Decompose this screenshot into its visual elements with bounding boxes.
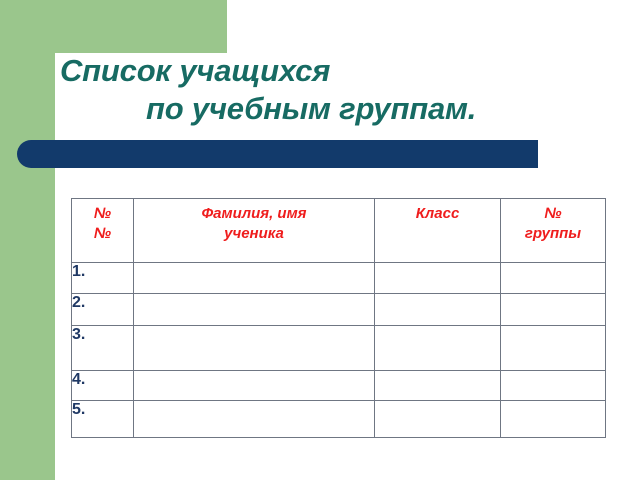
row-index-5: 5.	[72, 401, 134, 438]
table-row: 2.	[72, 294, 606, 326]
row-4-class-cell[interactable]	[375, 371, 501, 401]
column-header-group-number-line-2: группы	[501, 224, 605, 244]
row-4-group-cell[interactable]	[501, 371, 606, 401]
row-index-3: 3.	[72, 326, 134, 371]
column-header-class: Класс	[375, 199, 501, 263]
slide-canvas: Список учащихся по учебным группам. № № …	[0, 0, 640, 480]
row-2-group-cell[interactable]	[501, 294, 606, 326]
column-header-student-name: Фамилия, имя ученика	[134, 199, 375, 263]
row-5-group-cell[interactable]	[501, 401, 606, 438]
row-1-class-cell[interactable]	[375, 263, 501, 294]
row-3-class-cell[interactable]	[375, 326, 501, 371]
decor-green-sidebar	[0, 0, 55, 480]
student-roster-table: № № Фамилия, имя ученика Класс № группы	[71, 198, 606, 438]
column-header-number-line-1: №	[72, 204, 133, 224]
column-header-group-number-line-1: №	[501, 204, 605, 224]
column-header-number: № №	[72, 199, 134, 263]
row-2-student-name-cell[interactable]	[134, 294, 375, 326]
page-title-line-1: Список учащихся	[60, 52, 580, 90]
row-index-4: 4.	[72, 371, 134, 401]
row-4-student-name-cell[interactable]	[134, 371, 375, 401]
row-3-group-cell[interactable]	[501, 326, 606, 371]
column-header-group-number: № группы	[501, 199, 606, 263]
column-header-student-name-line-1: Фамилия, имя	[134, 204, 374, 224]
row-3-student-name-cell[interactable]	[134, 326, 375, 371]
row-1-student-name-cell[interactable]	[134, 263, 375, 294]
decor-navy-accent-bar	[17, 140, 538, 168]
row-2-class-cell[interactable]	[375, 294, 501, 326]
column-header-number-line-2: №	[72, 224, 133, 244]
table-row: 3.	[72, 326, 606, 371]
row-1-group-cell[interactable]	[501, 263, 606, 294]
decor-green-header-block	[0, 0, 227, 53]
table-row: 5.	[72, 401, 606, 438]
column-header-class-line-1: Класс	[375, 204, 500, 224]
table-row: 4.	[72, 371, 606, 401]
column-header-student-name-line-2: ученика	[134, 224, 374, 244]
row-index-1: 1.	[72, 263, 134, 294]
row-5-class-cell[interactable]	[375, 401, 501, 438]
row-5-student-name-cell[interactable]	[134, 401, 375, 438]
table-header-row: № № Фамилия, имя ученика Класс № группы	[72, 199, 606, 263]
table-row: 1.	[72, 263, 606, 294]
row-index-2: 2.	[72, 294, 134, 326]
page-title: Список учащихся по учебным группам.	[60, 52, 580, 128]
page-title-line-2: по учебным группам.	[60, 90, 580, 128]
